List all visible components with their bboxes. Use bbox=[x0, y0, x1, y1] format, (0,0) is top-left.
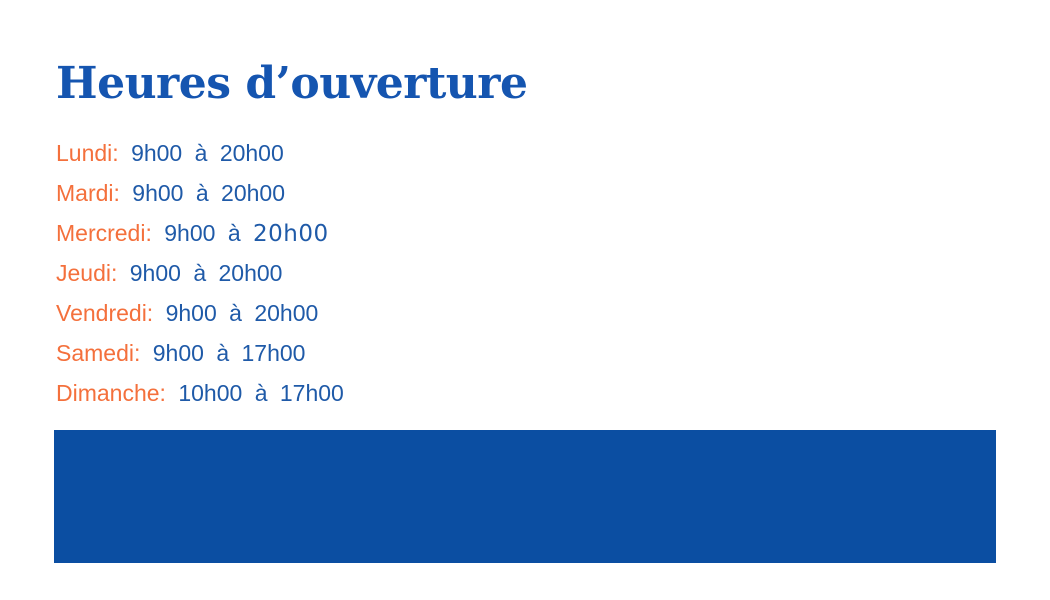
close-time: 20h00 bbox=[220, 140, 284, 166]
day-label-dimanche: Dimanche: bbox=[56, 380, 166, 406]
day-label-samedi: Samedi: bbox=[56, 340, 140, 366]
open-time: 9h00 bbox=[164, 220, 215, 246]
time-separator: à bbox=[196, 180, 209, 206]
slide-canvas: Heures d’ouverture Lundi: 9h00 à 20h00 M… bbox=[0, 0, 1050, 600]
list-item: Lundi: 9h00 à 20h00 bbox=[56, 133, 344, 173]
day-label-mardi: Mardi: bbox=[56, 180, 120, 206]
hours-value-jeudi: 9h00 à 20h00 bbox=[130, 260, 283, 286]
day-label-lundi: Lundi: bbox=[56, 140, 119, 166]
list-item: Samedi: 9h00 à 17h00 bbox=[56, 333, 344, 373]
list-item: Jeudi: 9h00 à 20h00 bbox=[56, 253, 344, 293]
day-label-vendredi: Vendredi: bbox=[56, 300, 153, 326]
media-placeholder-block bbox=[54, 430, 996, 563]
open-time: 9h00 bbox=[153, 340, 204, 366]
hours-value-samedi: 9h00 à 17h00 bbox=[153, 340, 306, 366]
time-separator: à bbox=[228, 220, 241, 246]
hours-value-mardi: 9h00 à 20h00 bbox=[132, 180, 285, 206]
time-separator: à bbox=[195, 140, 208, 166]
list-item: Dimanche: 10h00 à 17h00 bbox=[56, 373, 344, 413]
close-time: 20h00 bbox=[219, 260, 283, 286]
open-time: 9h00 bbox=[132, 180, 183, 206]
hours-value-lundi: 9h00 à 20h00 bbox=[131, 140, 284, 166]
close-time: 20h00 bbox=[253, 221, 329, 247]
close-time: 20h00 bbox=[221, 180, 285, 206]
close-time: 17h00 bbox=[242, 340, 306, 366]
list-item: Vendredi: 9h00 à 20h00 bbox=[56, 293, 344, 333]
time-separator: à bbox=[255, 380, 268, 406]
day-label-jeudi: Jeudi: bbox=[56, 260, 117, 286]
hours-value-dimanche: 10h00 à 17h00 bbox=[178, 380, 344, 406]
list-item: Mercredi: 9h00 à 20h00 bbox=[56, 213, 344, 253]
open-time: 10h00 bbox=[178, 380, 242, 406]
open-time: 9h00 bbox=[166, 300, 217, 326]
day-label-mercredi: Mercredi: bbox=[56, 220, 152, 246]
time-separator: à bbox=[229, 300, 242, 326]
hours-value-vendredi: 9h00 à 20h00 bbox=[166, 300, 319, 326]
page-title: Heures d’ouverture bbox=[56, 58, 527, 110]
time-separator: à bbox=[216, 340, 229, 366]
time-separator: à bbox=[193, 260, 206, 286]
open-time: 9h00 bbox=[131, 140, 182, 166]
open-time: 9h00 bbox=[130, 260, 181, 286]
list-item: Mardi: 9h00 à 20h00 bbox=[56, 173, 344, 213]
hours-value-mercredi: 9h00 à 20h00 bbox=[164, 220, 328, 246]
opening-hours-list: Lundi: 9h00 à 20h00 Mardi: 9h00 à 20h00 … bbox=[56, 133, 344, 413]
close-time: 20h00 bbox=[254, 300, 318, 326]
close-time: 17h00 bbox=[280, 380, 344, 406]
